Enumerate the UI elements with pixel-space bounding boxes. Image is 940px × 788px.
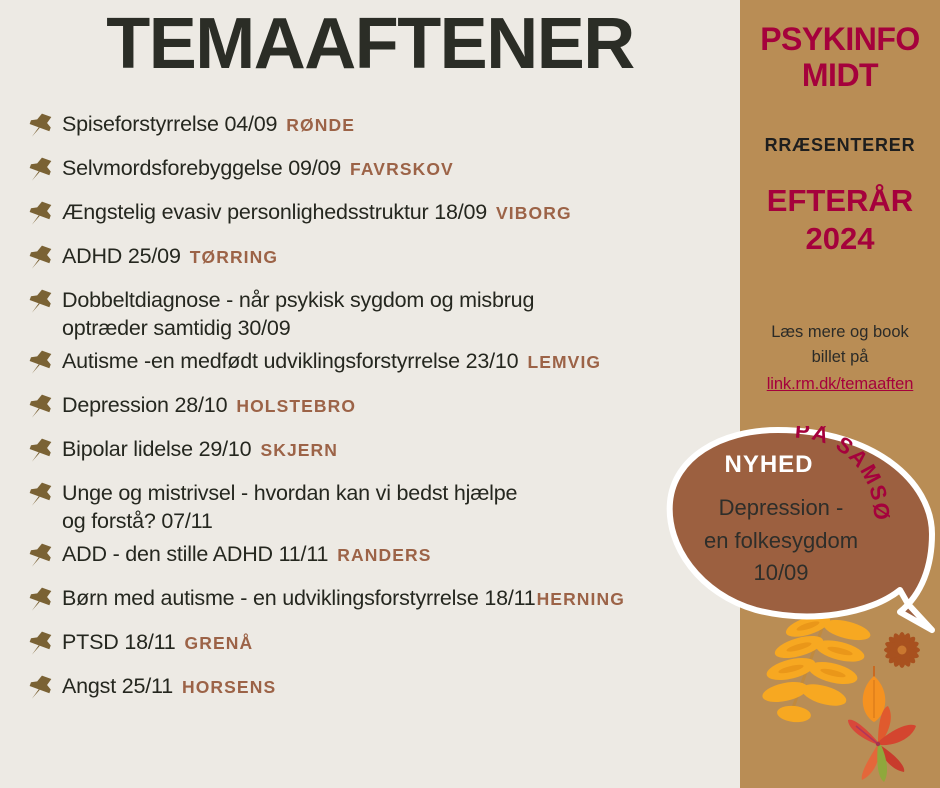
event-row[interactable]: Angst 25/11HORSENS: [26, 670, 740, 712]
event-title: Autisme -en medfødt udviklingsforstyrrel…: [62, 349, 518, 373]
event-city: VIBORG: [496, 203, 572, 223]
event-text: Dobbeltdiagnose - når psykisk sygdom og …: [62, 284, 534, 343]
event-row[interactable]: Spiseforstyrrelse 04/09RØNDE: [26, 108, 740, 150]
brand-logo: PSYKINFO MIDT: [740, 22, 940, 94]
event-text: ADHD 25/09TØRRING: [62, 240, 278, 270]
event-city: HERNING: [537, 589, 625, 609]
event-text: PTSD 18/11GRENÅ: [62, 626, 253, 656]
event-text: ADD - den stille ADHD 11/11RANDERS: [62, 538, 431, 568]
event-city: SKJERN: [260, 440, 338, 460]
event-row[interactable]: PTSD 18/11GRENÅ: [26, 626, 740, 668]
event-row[interactable]: Bipolar lidelse 29/10SKJERN: [26, 433, 740, 475]
event-city: LEMVIG: [527, 352, 601, 372]
booking-info: Læs mere og book billet på link.rm.dk/te…: [740, 320, 940, 396]
event-city: TØRRING: [190, 247, 278, 267]
brand-line-1: PSYKINFO: [760, 21, 920, 57]
event-row[interactable]: Autisme -en medfødt udviklingsforstyrrel…: [26, 345, 740, 387]
event-title: Angst 25/11: [62, 674, 173, 698]
event-title: Depression 28/10: [62, 393, 227, 417]
event-city: HOLSTEBRO: [236, 396, 356, 416]
pushpin-icon: [26, 112, 56, 140]
booking-line-2: billet på: [812, 348, 869, 366]
event-text: Unge og mistrivsel - hvordan kan vi beds…: [62, 477, 517, 536]
event-title: ADD - den stille ADHD 11/11: [62, 542, 328, 566]
brand-line-2: MIDT: [802, 57, 878, 93]
event-title: Unge og mistrivsel - hvordan kan vi beds…: [62, 481, 517, 505]
event-row[interactable]: Depression 28/10HOLSTEBRO: [26, 389, 740, 431]
event-row[interactable]: Dobbeltdiagnose - når psykisk sygdom og …: [26, 284, 740, 343]
event-title: Bipolar lidelse 29/10: [62, 437, 251, 461]
pushpin-icon: [26, 542, 56, 570]
pushpin-icon: [26, 630, 56, 658]
event-title-line-2: optræder samtidig 30/09: [62, 314, 534, 342]
event-title: Dobbeltdiagnose - når psykisk sygdom og …: [62, 288, 534, 312]
season-line-1: EFTERÅR: [767, 183, 913, 218]
event-city: RANDERS: [337, 545, 431, 565]
pushpin-icon: [26, 674, 56, 702]
event-text: Spiseforstyrrelse 04/09RØNDE: [62, 108, 355, 138]
booking-link[interactable]: link.rm.dk/temaaften: [740, 372, 940, 397]
pushpin-icon: [26, 200, 56, 228]
event-row[interactable]: ADHD 25/09TØRRING: [26, 240, 740, 282]
event-title: Selvmordsforebyggelse 09/09: [62, 156, 341, 180]
main-column: TEMAAFTENER Spiseforstyrrelse 04/09RØNDE…: [0, 0, 740, 788]
event-title: Ængstelig evasiv personlighedsstruktur 1…: [62, 200, 487, 224]
page-title: TEMAAFTENER: [0, 6, 740, 84]
event-text: Autisme -en medfødt udviklingsforstyrrel…: [62, 345, 601, 375]
event-text: Børn med autisme - en udviklingsforstyrr…: [62, 582, 625, 612]
event-city: FAVRSKOV: [350, 159, 454, 179]
pushpin-icon: [26, 156, 56, 184]
news-speech-bubble: NYHED Depression - en folkesygdom 10/09 …: [660, 424, 940, 654]
pushpin-icon: [26, 437, 56, 465]
samso-text: PÅ SAMSØ: [794, 426, 894, 522]
pushpin-icon: [26, 349, 56, 377]
bubble-line-3: 10/09: [666, 557, 896, 590]
event-text: Bipolar lidelse 29/10SKJERN: [62, 433, 338, 463]
event-text: Angst 25/11HORSENS: [62, 670, 276, 700]
presents-label: RRÆSENTERER: [740, 135, 940, 156]
event-row[interactable]: Børn med autisme - en udviklingsforstyrr…: [26, 582, 740, 624]
event-title: Spiseforstyrrelse 04/09: [62, 112, 277, 136]
event-row[interactable]: Selvmordsforebyggelse 09/09FAVRSKOV: [26, 152, 740, 194]
red-maple-leaf-icon: [848, 706, 916, 782]
event-text: Depression 28/10HOLSTEBRO: [62, 389, 356, 419]
event-city: RØNDE: [286, 115, 355, 135]
event-city: GRENÅ: [185, 633, 254, 653]
event-text: Selvmordsforebyggelse 09/09FAVRSKOV: [62, 152, 454, 182]
curved-samso-label: PÅ SAMSØ: [788, 426, 938, 536]
event-row[interactable]: Unge og mistrivsel - hvordan kan vi beds…: [26, 477, 740, 536]
event-text: Ængstelig evasiv personlighedsstruktur 1…: [62, 196, 572, 226]
pushpin-icon: [26, 586, 56, 614]
event-row[interactable]: Ængstelig evasiv personlighedsstruktur 1…: [26, 196, 740, 238]
event-title: ADHD 25/09: [62, 244, 181, 268]
pushpin-icon: [26, 244, 56, 272]
event-row[interactable]: ADD - den stille ADHD 11/11RANDERS: [26, 538, 740, 580]
pushpin-icon: [26, 393, 56, 421]
pushpin-icon: [26, 288, 56, 316]
orange-teardrop-leaf-icon: [863, 666, 886, 722]
season-heading: EFTERÅR 2024: [740, 182, 940, 258]
event-title: Børn med autisme - en udviklingsforstyrr…: [62, 586, 536, 610]
booking-line-1: Læs mere og book: [771, 323, 909, 341]
pushpin-icon: [26, 481, 56, 509]
event-city: HORSENS: [182, 677, 276, 697]
event-title: PTSD 18/11: [62, 630, 176, 654]
event-title-line-2: og forstå? 07/11: [62, 507, 517, 535]
event-list: Spiseforstyrrelse 04/09RØNDESelvmordsfor…: [26, 108, 740, 714]
season-year: 2024: [806, 221, 875, 256]
poster-canvas: TEMAAFTENER Spiseforstyrrelse 04/09RØNDE…: [0, 0, 940, 788]
